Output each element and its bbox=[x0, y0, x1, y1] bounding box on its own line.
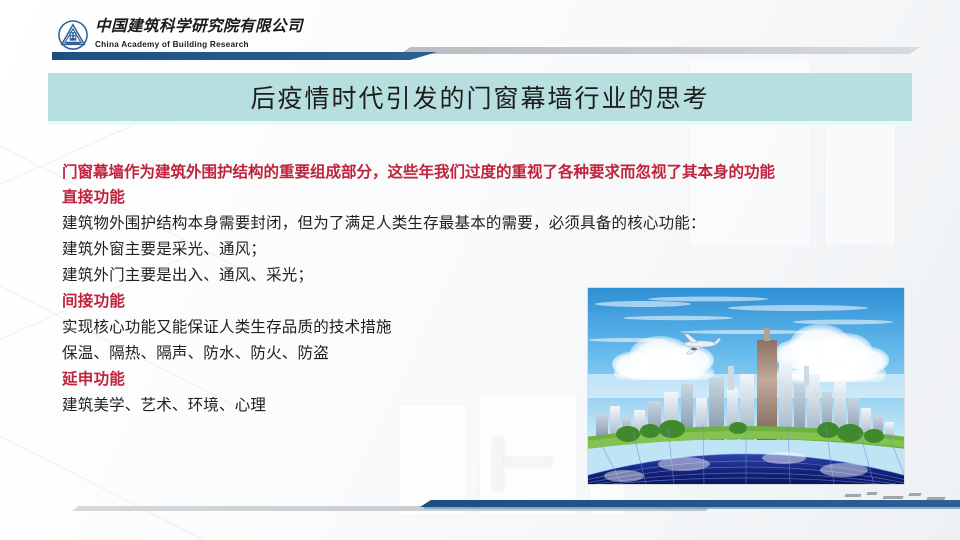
company-name-en: China Academy of Building Research bbox=[95, 40, 249, 49]
section-line: 建筑物外围护结构本身需要封闭，但为了满足人类生存最基本的需要，必须具备的核心功能… bbox=[62, 211, 852, 237]
slide-header: 中国建筑科学研究院有限公司 China Academy of Building … bbox=[0, 0, 960, 62]
slide-canvas: 中国建筑科学研究院有限公司 China Academy of Building … bbox=[0, 0, 960, 540]
footer-decor-marks bbox=[845, 492, 955, 506]
section-heading-direct: 直接功能 bbox=[62, 185, 852, 211]
lead-paragraph: 门窗幕墙作为建筑外围护结构的重要组成部分，这些年我们过度的重视了各种要求而忽视了… bbox=[62, 160, 822, 185]
slide-title-band: 后疫情时代引发的门窗幕墙行业的思考 bbox=[48, 73, 912, 121]
section-line: 建筑外窗主要是采光、通风； bbox=[62, 237, 852, 263]
company-name-cn: 中国建筑科学研究院有限公司 bbox=[95, 18, 303, 35]
eco-city-globe-image bbox=[587, 287, 905, 485]
company-logo: 中国建筑科学研究院有限公司 China Academy of Building … bbox=[58, 19, 303, 51]
footer-rule-blue-thin bbox=[424, 507, 960, 509]
header-rule-blue bbox=[52, 52, 437, 60]
cabr-triangle-logo-icon bbox=[58, 20, 88, 50]
header-rule-gray bbox=[400, 47, 920, 54]
slide-title: 后疫情时代引发的门窗幕墙行业的思考 bbox=[250, 79, 709, 115]
section-line: 建筑外门主要是出入、通风、采光； bbox=[62, 263, 852, 289]
